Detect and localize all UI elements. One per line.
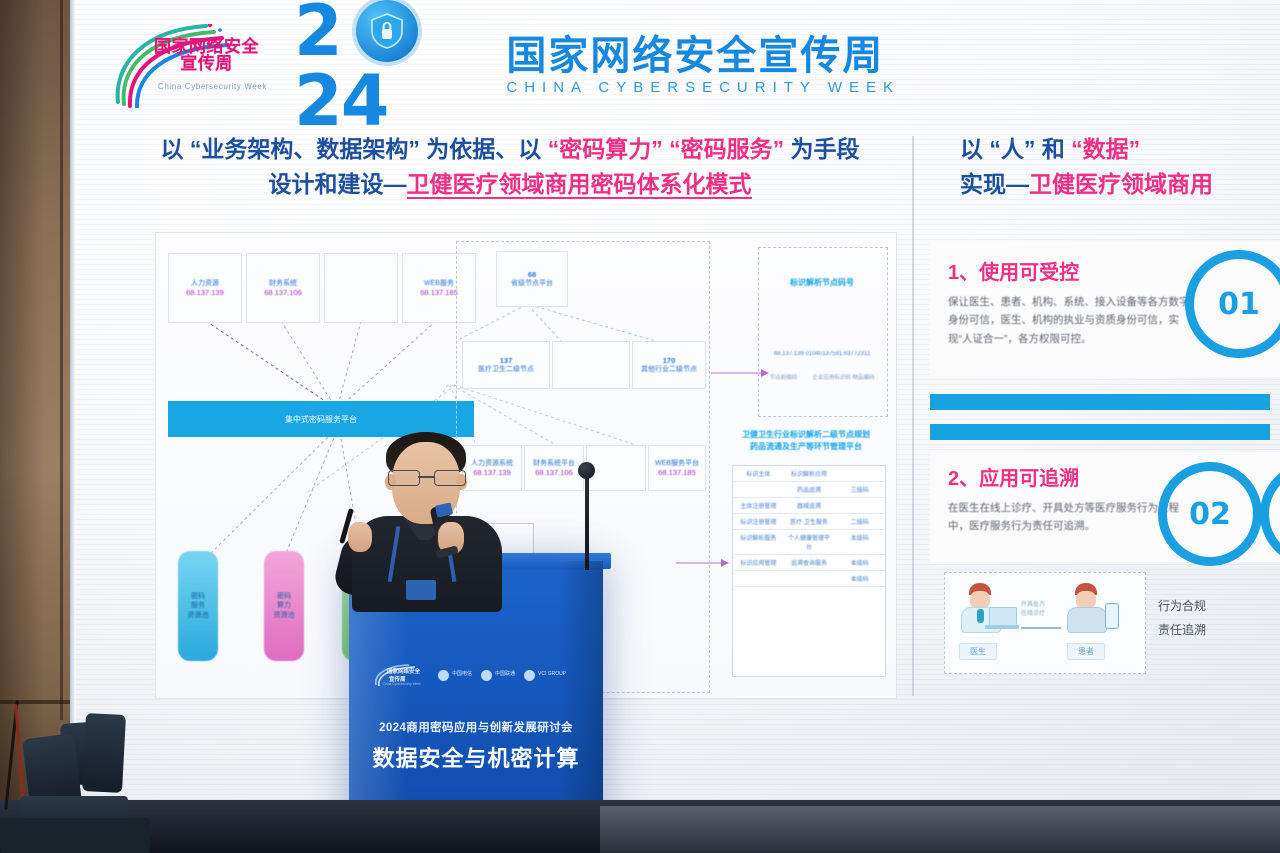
diagram-leaf-node: [586, 445, 646, 491]
sponsor-logo: VCI GROUP: [524, 670, 566, 681]
podium-cw-logo: 国家网络安全 宣传周 China Cybersecurity Week: [373, 663, 429, 687]
diagram-node: [324, 253, 398, 323]
event-title-cn: 国家网络安全宣传周: [506, 35, 900, 77]
table-row: 标识注册管理医疗 卫生服务二级码: [733, 514, 885, 530]
laptop-icon: [989, 607, 1017, 627]
wall-seam: [60, 0, 63, 720]
diagram-root-node: 68 省级节点平台: [496, 251, 568, 307]
event-title-block: 国家网络安全宣传周 CHINA CYBERSECURITY WEEK: [506, 35, 900, 96]
table-title: 卫健卫生行业标识解析二级节点规划 药品流通及生产等环节管理平台: [726, 429, 886, 453]
note-1: 行为合规: [1158, 594, 1206, 618]
diagram-branch-node: [552, 341, 630, 389]
table-row: 标识解析服务个人健康管理平台本级码: [733, 530, 885, 555]
rtitle2-highlight: 卫健医疗领域商用: [1029, 171, 1213, 197]
rtitle2-prefix: 实现—: [960, 171, 1029, 197]
table-row: 主体注册管理器械追溯: [733, 498, 885, 514]
patient-label: 患者: [1067, 643, 1105, 660]
illustration-notes: 行为合规 责任追溯: [1158, 594, 1206, 642]
event-header: 国家网络安全 宣传周 China Cybersecurity Week 224 …: [110, 18, 900, 113]
slide-divider: [912, 136, 914, 696]
table-row: 药品追溯三级码: [733, 482, 885, 498]
logo-line-1: 国家网络安全: [154, 38, 259, 56]
section-1-body: 保让医生、患者、机构、系统、接入设备等各方数字身份可信，医生、机构的执业与资质身…: [948, 293, 1198, 348]
diagram-node: 财务系统 68.137.106: [246, 253, 320, 323]
diagram-leaf-node: WEB服务平台 68.137.185: [648, 445, 706, 491]
conference-photo-scene: 国家网络安全 宣传周 China Cybersecurity Week 224 …: [0, 0, 1280, 853]
sponsor-logo: 中国电信: [438, 670, 472, 681]
cybersecurity-week-logo: 国家网络安全 宣传周 China Cybersecurity Week: [110, 20, 276, 112]
table-header-row: 标识主体 标识解析应用: [733, 466, 885, 482]
identifier-codes: 68.137.139 01040137591.63772311: [762, 351, 882, 357]
logo-english-text: China Cybersecurity Week: [158, 82, 267, 91]
doctor-label: 医生: [959, 643, 997, 660]
slide-right: 以 “人” 和 “数据” 实现—卫健医疗领域商用 1、使用可受控 保让医生、患者…: [930, 132, 1280, 702]
year-block: 224: [294, 0, 480, 136]
speaker-glasses: [388, 470, 466, 484]
table-row: 本级码: [733, 571, 885, 587]
slide-right-title-line1: 以 “人” 和 “数据”: [930, 132, 1280, 167]
shield-lock-icon: [356, 0, 418, 62]
light-truss: [0, 818, 150, 853]
resource-cylinder: 密码 服务 资源池: [178, 551, 218, 661]
diagram-branch-node: 137 医疗卫生二级节点: [462, 341, 550, 389]
doctor-patient-illustration: 开具处方 在线诊疗 医生 患者: [944, 572, 1146, 674]
stage-lights: [0, 700, 210, 853]
diagram-branch-node: 170 其他行业二级节点: [632, 341, 706, 389]
identifier-notes: 节点前缀码 企业应用标识码 物品编码: [762, 373, 882, 381]
title2-prefix: 设计和建设—: [269, 171, 407, 197]
identifier-panel: [758, 247, 888, 417]
identifier-table: 标识主体 标识解析应用 药品追溯三级码 主体注册管理器械追溯 标识注册管理医疗 …: [732, 465, 886, 677]
session-topic: 数据安全与机密计算: [349, 741, 603, 773]
title2-highlight: 卫健医疗领域商用密码体系化模式: [407, 171, 752, 199]
slide-left-title-line2: 设计和建设—卫健医疗领域商用密码体系化模式: [95, 167, 925, 202]
phone-icon: [1105, 603, 1119, 629]
section-2-ring: 02: [1158, 462, 1262, 566]
stage-floor-right: [600, 806, 1280, 853]
conference-name: 2024商用密码应用与创新发展研讨会: [349, 719, 603, 735]
slide-right-title-line2: 实现—卫健医疗领域商用: [930, 167, 1280, 202]
laptop-base: [985, 625, 1019, 629]
resource-cylinder: 密码 算力 资源池: [264, 551, 304, 661]
diagram-node: 人力资源 68.137.139: [168, 253, 242, 323]
screen-left-edge: [70, 0, 76, 800]
logo-chinese-text: 国家网络安全 宣传周: [154, 38, 259, 73]
podium-title-block: 2024商用密码应用与创新发展研讨会 数据安全与机密计算: [349, 719, 603, 773]
connection-line: [1021, 627, 1061, 629]
speaker-badge: [406, 580, 436, 600]
microphone-stand: [585, 470, 589, 570]
logo-line-2: 宣传周: [180, 55, 233, 73]
slide-left-title-line1: 以 “业务架构、数据架构” 为依据、以 “密码算力” “密码服务” 为手段: [95, 132, 925, 167]
divider-bar-2: [930, 424, 1270, 440]
microphone-head: [578, 462, 595, 479]
note-2: 责任追溯: [1158, 618, 1206, 642]
table-row: 标识应用管理追溯查询服务本级码: [733, 555, 885, 571]
section-2-body: 在医生在线上诊疗、开具处方等医疗服务行为过程中，医疗服务行为责任可追溯。: [948, 499, 1188, 536]
sponsor-logo: 中国联通: [481, 670, 515, 681]
stage-light-fixture: [82, 713, 126, 793]
event-title-en: CHINA CYBERSECURITY WEEK: [506, 79, 900, 96]
connection-label: 开具处方 在线诊疗: [1021, 601, 1065, 619]
speaker-left-hand: [348, 522, 372, 552]
sponsor-logo-row: 国家网络安全 宣传周 China Cybersecurity Week 中国电信…: [373, 663, 579, 687]
divider-bar-1: [930, 394, 1270, 410]
speaker: [330, 430, 540, 610]
